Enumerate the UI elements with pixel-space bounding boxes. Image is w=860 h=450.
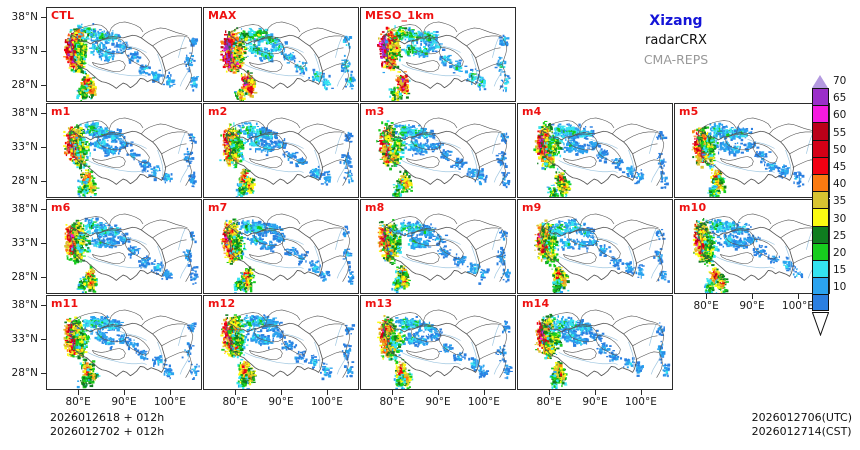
x-axis-label: 90°E bbox=[259, 396, 303, 408]
x-axis-tick bbox=[124, 390, 125, 395]
map-panel-m5: m5 bbox=[674, 103, 830, 198]
x-axis-label: 100°E bbox=[619, 396, 663, 408]
radar-echo-layer bbox=[63, 23, 199, 101]
x-axis-label: 90°E bbox=[573, 396, 617, 408]
map-panel-m2: m2 bbox=[203, 103, 359, 198]
colorbar-under-arrow-icon bbox=[812, 312, 829, 336]
y-axis-label: 33°N bbox=[0, 141, 38, 153]
panel-label-m8: m8 bbox=[365, 201, 385, 214]
panel-label-m11: m11 bbox=[51, 297, 78, 310]
footer-left-line-1: 2026012618 + 012h bbox=[50, 411, 164, 425]
x-axis-tick bbox=[798, 294, 799, 299]
radar-echo-layer bbox=[692, 123, 826, 197]
colorbar-tick-label: 70 bbox=[833, 76, 846, 87]
y-axis-label: 28°N bbox=[0, 271, 38, 283]
x-axis-label: 80°E bbox=[527, 396, 571, 408]
colorbar-segment bbox=[812, 226, 829, 243]
radar-echo-layer bbox=[220, 218, 354, 293]
panel-label-m13: m13 bbox=[365, 297, 392, 310]
x-axis-tick bbox=[281, 390, 282, 395]
x-axis-tick bbox=[595, 390, 596, 395]
x-axis-label: 80°E bbox=[684, 300, 728, 312]
panel-label-m14: m14 bbox=[522, 297, 549, 310]
header-system: CMA-REPS bbox=[560, 50, 792, 69]
colorbar-segment bbox=[812, 243, 829, 260]
colorbar-segment bbox=[812, 277, 829, 294]
map-panel-m12: m12 bbox=[203, 295, 359, 390]
y-axis-label: 28°N bbox=[0, 79, 38, 91]
x-axis-tick bbox=[170, 390, 171, 395]
x-axis-label: 100°E bbox=[462, 396, 506, 408]
colorbar-segment bbox=[812, 140, 829, 157]
y-axis-tick bbox=[41, 339, 46, 340]
colorbar-segment bbox=[812, 88, 829, 105]
map-panel-m14: m14 bbox=[517, 295, 673, 390]
colorbar-tick-label: 50 bbox=[833, 145, 846, 156]
panel-label-m2: m2 bbox=[208, 105, 228, 118]
panel-label-m10: m10 bbox=[679, 201, 706, 214]
x-axis-tick bbox=[706, 294, 707, 299]
y-axis-tick bbox=[41, 17, 46, 18]
colorbar-segment bbox=[812, 157, 829, 174]
x-axis-tick bbox=[484, 390, 485, 395]
y-axis-label: 28°N bbox=[0, 367, 38, 379]
colorbar-segment bbox=[812, 294, 829, 311]
x-axis-tick bbox=[438, 390, 439, 395]
radar-echo-layer bbox=[63, 315, 199, 388]
y-axis-tick bbox=[41, 181, 46, 182]
y-axis-tick bbox=[41, 147, 46, 148]
panel-label-meso_1km: MESO_1km bbox=[365, 9, 434, 22]
map-panel-m13: m13 bbox=[360, 295, 516, 390]
y-axis-tick bbox=[41, 113, 46, 114]
x-axis-tick bbox=[392, 390, 393, 395]
y-axis-label: 38°N bbox=[0, 11, 38, 23]
map-panel-m10: m10 bbox=[674, 199, 830, 294]
radar-echo-layer bbox=[377, 25, 510, 101]
colorbar-tick-label: 45 bbox=[833, 162, 846, 173]
header-variable: radarCRX bbox=[560, 31, 792, 50]
panel-label-m4: m4 bbox=[522, 105, 542, 118]
footer-right-line-1: 2026012706(UTC) bbox=[752, 411, 852, 425]
radar-echo-layer bbox=[534, 219, 670, 293]
x-axis-tick bbox=[327, 390, 328, 395]
y-axis-tick bbox=[41, 85, 46, 86]
x-axis-tick bbox=[235, 390, 236, 395]
radar-echo-layer bbox=[219, 122, 353, 197]
y-axis-label: 33°N bbox=[0, 237, 38, 249]
colorbar-segment bbox=[812, 191, 829, 208]
x-axis-tick bbox=[549, 390, 550, 395]
colorbar-tick-label: 10 bbox=[833, 282, 846, 293]
y-axis-label: 33°N bbox=[0, 45, 38, 57]
panel-label-m3: m3 bbox=[365, 105, 385, 118]
colorbar-tick-label: 60 bbox=[833, 110, 846, 121]
header-region-title: Xizang bbox=[560, 12, 792, 31]
x-axis-tick bbox=[78, 390, 79, 395]
map-panel-meso_1km: MESO_1km bbox=[360, 7, 516, 102]
colorbar-tick-label: 25 bbox=[833, 231, 846, 242]
radar-echo-layer bbox=[220, 314, 355, 389]
colorbar-tick-label: 40 bbox=[833, 179, 846, 190]
map-panel-m4: m4 bbox=[517, 103, 673, 198]
map-panel-m6: m6 bbox=[46, 199, 202, 294]
x-axis-label: 90°E bbox=[730, 300, 774, 312]
colorbar-tick-label: 15 bbox=[833, 265, 846, 276]
colorbar-tick-label: 30 bbox=[833, 214, 846, 225]
y-axis-label: 38°N bbox=[0, 107, 38, 119]
y-axis-tick bbox=[41, 51, 46, 52]
y-axis-tick bbox=[41, 305, 46, 306]
footer-left-line-2: 2026012702 + 012h bbox=[50, 425, 164, 439]
x-axis-label: 80°E bbox=[213, 396, 257, 408]
radar-echo-layer bbox=[693, 218, 827, 293]
y-axis-label: 33°N bbox=[0, 333, 38, 345]
map-panel-max: MAX bbox=[203, 7, 359, 102]
colorbar-tick-label: 20 bbox=[833, 248, 846, 259]
river-layer bbox=[559, 229, 661, 279]
y-axis-tick bbox=[41, 373, 46, 374]
map-panel-ctl: CTL bbox=[46, 7, 202, 102]
x-axis-tick bbox=[641, 390, 642, 395]
panel-label-max: MAX bbox=[208, 9, 237, 22]
panel-label-ctl: CTL bbox=[51, 9, 74, 22]
x-axis-label: 100°E bbox=[305, 396, 349, 408]
x-axis-tick bbox=[752, 294, 753, 299]
radar-echo-layer bbox=[378, 219, 511, 293]
map-panel-m11: m11 bbox=[46, 295, 202, 390]
colorbar-segment bbox=[812, 122, 829, 139]
radar-echo-layer bbox=[377, 315, 513, 389]
radar-echo-layer bbox=[533, 121, 669, 197]
colorbar-tick-label: 55 bbox=[833, 128, 846, 139]
colorbar-segment bbox=[812, 208, 829, 225]
panel-label-m9: m9 bbox=[522, 201, 542, 214]
radar-echo-layer bbox=[64, 218, 198, 293]
colorbar-tick-label: 65 bbox=[833, 93, 846, 104]
y-axis-label: 38°N bbox=[0, 299, 38, 311]
y-axis-tick bbox=[41, 243, 46, 244]
footer-right-line-2: 2026012714(CST) bbox=[752, 425, 852, 439]
footer-left: 2026012618 + 012h 2026012702 + 012h bbox=[50, 411, 164, 439]
panel-label-m1: m1 bbox=[51, 105, 71, 118]
radar-echo-layer bbox=[535, 314, 671, 389]
map-panel-m9: m9 bbox=[517, 199, 673, 294]
radar-echo-layer bbox=[220, 27, 356, 101]
x-axis-label: 80°E bbox=[370, 396, 414, 408]
panel-label-m5: m5 bbox=[679, 105, 699, 118]
x-axis-label: 90°E bbox=[416, 396, 460, 408]
y-axis-label: 38°N bbox=[0, 203, 38, 215]
panel-label-m6: m6 bbox=[51, 201, 71, 214]
panel-label-m12: m12 bbox=[208, 297, 235, 310]
colorbar-tick-label: 35 bbox=[833, 196, 846, 207]
figure-header: Xizang radarCRX CMA-REPS bbox=[560, 12, 792, 69]
footer-right: 2026012706(UTC) 2026012714(CST) bbox=[752, 411, 852, 439]
map-panel-m3: m3 bbox=[360, 103, 516, 198]
y-axis-tick bbox=[41, 209, 46, 210]
colorbar-segment bbox=[812, 105, 829, 122]
colorbar-segment bbox=[812, 174, 829, 191]
map-panel-m1: m1 bbox=[46, 103, 202, 198]
y-axis-label: 28°N bbox=[0, 175, 38, 187]
map-panel-m7: m7 bbox=[203, 199, 359, 294]
x-axis-label: 80°E bbox=[56, 396, 100, 408]
map-panel-m8: m8 bbox=[360, 199, 516, 294]
figure-root: CTLMAXMESO_1kmm1m2m3m4m5m6m7m8m9m10m11m1… bbox=[0, 0, 860, 450]
colorbar-segments bbox=[812, 88, 829, 311]
y-axis-tick bbox=[41, 277, 46, 278]
colorbar-segment bbox=[812, 260, 829, 277]
x-axis-label: 90°E bbox=[102, 396, 146, 408]
colorbar-over-arrow-icon bbox=[812, 75, 828, 88]
panel-label-m7: m7 bbox=[208, 201, 228, 214]
x-axis-label: 100°E bbox=[148, 396, 192, 408]
